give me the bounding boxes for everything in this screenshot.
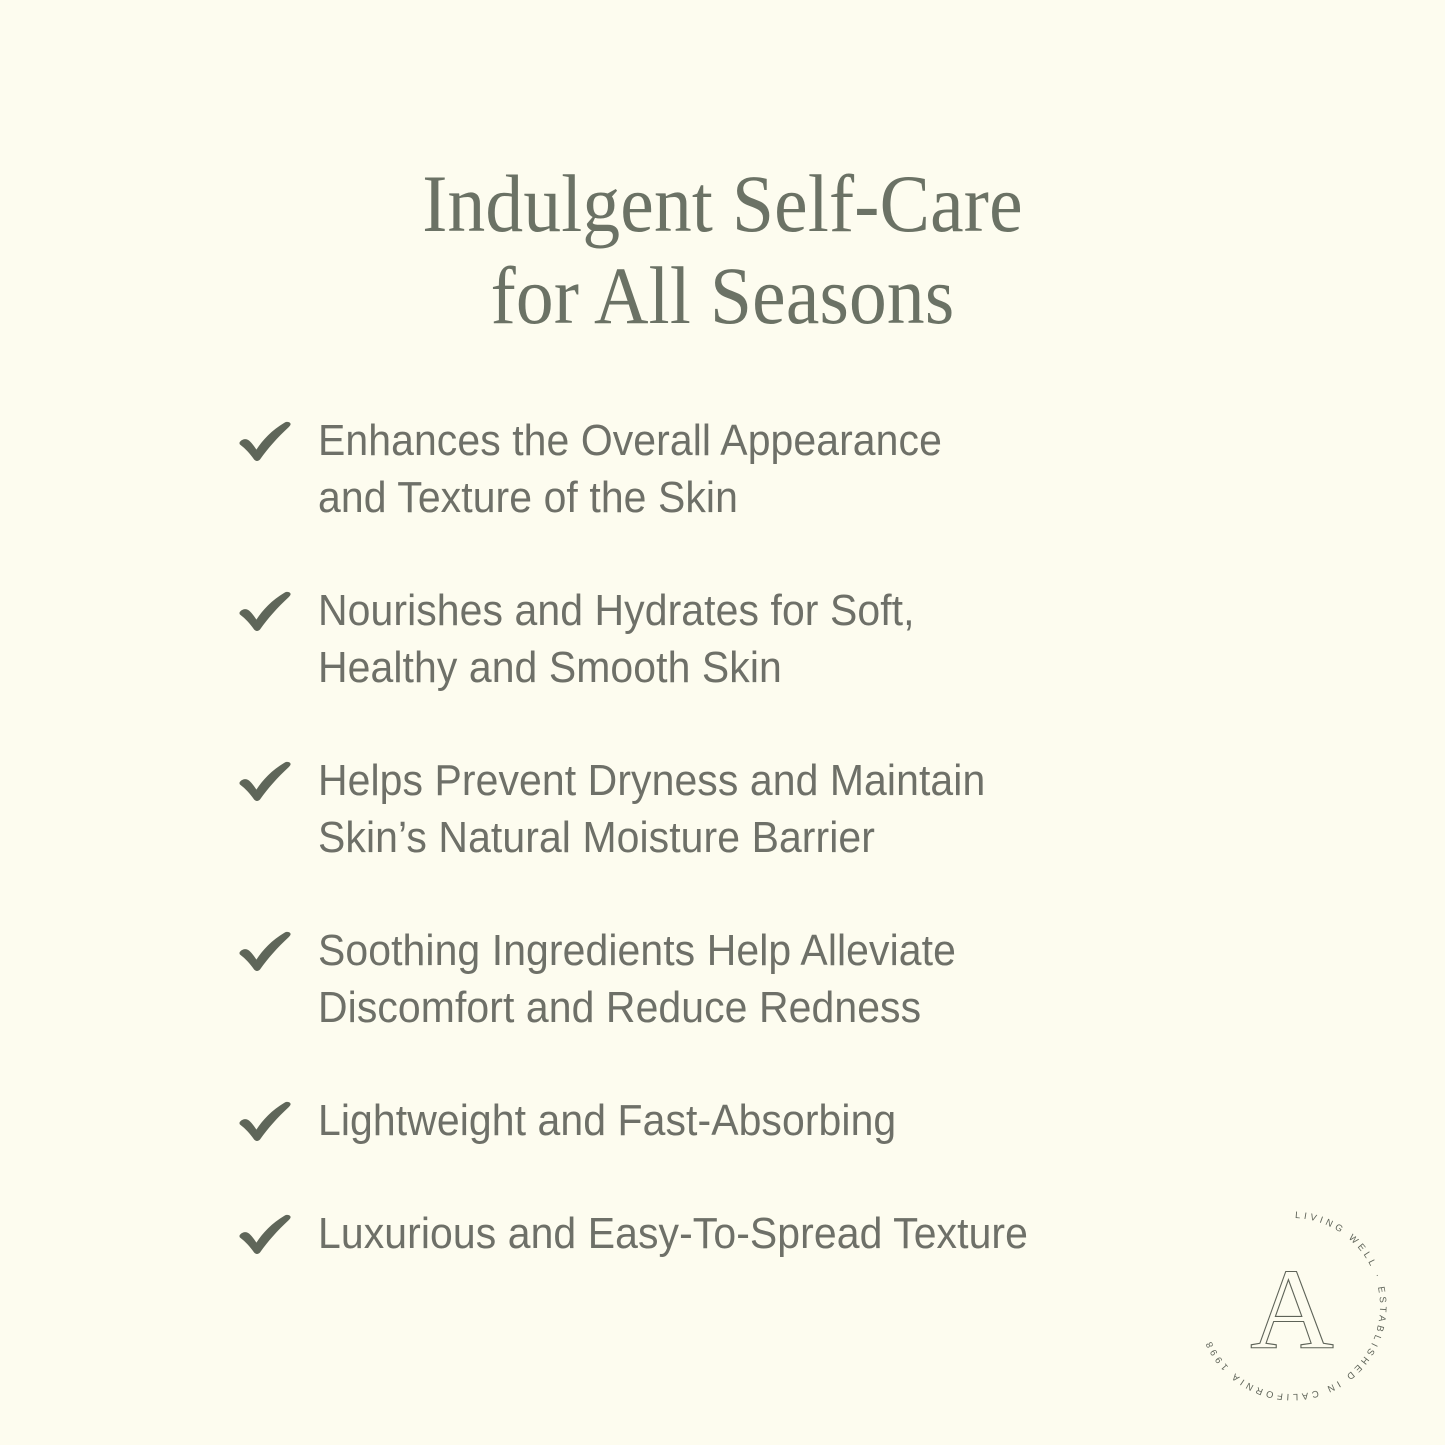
list-item: Soothing Ingredients Help Alleviate Disc… [238,922,1198,1036]
title-line-1: Indulgent Self-Care [58,158,1387,250]
list-item-label: Helps Prevent Dryness and Maintain Skin’… [318,752,1136,866]
list-item: Helps Prevent Dryness and Maintain Skin’… [238,752,1198,866]
list-item-label: Enhances the Overall Appearance and Text… [318,412,1136,526]
list-item-label: Soothing Ingredients Help Alleviate Disc… [318,922,1136,1036]
list-item: Nourishes and Hydrates for Soft, Healthy… [238,582,1198,696]
list-item: Enhances the Overall Appearance and Text… [238,412,1198,526]
check-icon [238,412,318,462]
brand-seal-icon: · THE ART OF LIVING WELL · ESTABLISHED I… [1182,1196,1402,1416]
check-icon [238,1092,318,1142]
list-item-label: Nourishes and Hydrates for Soft, Healthy… [318,582,1136,696]
brand-monogram: A [1250,1246,1334,1374]
check-icon [238,922,318,972]
benefits-list: Enhances the Overall Appearance and Text… [238,412,1198,1262]
list-item-label: Lightweight and Fast-Absorbing [318,1092,1136,1149]
page-title: Indulgent Self-Care for All Seasons [0,158,1445,342]
list-item-label: Luxurious and Easy-To-Spread Texture [318,1205,1136,1262]
list-item: Lightweight and Fast-Absorbing [238,1092,1198,1149]
promo-poster: Indulgent Self-Care for All Seasons Enha… [0,0,1445,1445]
check-icon [238,582,318,632]
list-item: Luxurious and Easy-To-Spread Texture [238,1205,1198,1262]
check-icon [238,752,318,802]
title-line-2: for All Seasons [58,250,1387,342]
check-icon [238,1205,318,1255]
